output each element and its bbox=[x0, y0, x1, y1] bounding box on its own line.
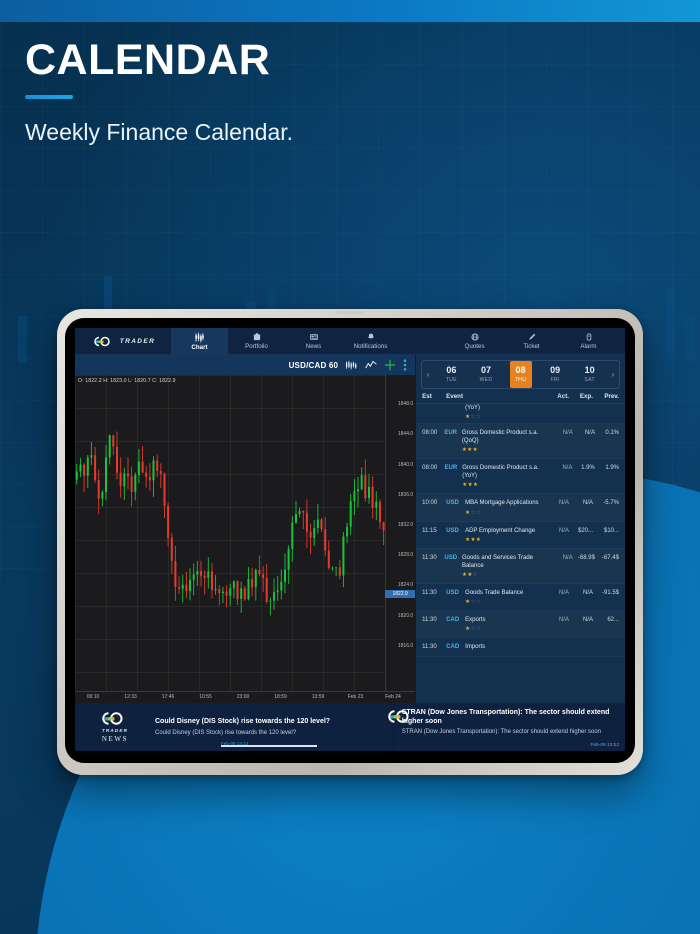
event-cell: Imports bbox=[465, 643, 547, 651]
tab-notifications[interactable]: Notifications bbox=[342, 328, 399, 354]
impact-rating-stars: ★☆☆ bbox=[465, 599, 544, 605]
impact-rating-stars: ★☆☆ bbox=[465, 510, 544, 516]
impact-rating-stars: ★☆☆ bbox=[465, 626, 544, 632]
price-axis-tick: 1816.0 bbox=[398, 643, 413, 649]
impact-rating-stars: ★★★ bbox=[462, 447, 550, 453]
chart-toolbar: USD/CAD 60 bbox=[75, 355, 415, 375]
event-actual: N/A bbox=[552, 464, 573, 471]
calendar-date-08[interactable]: 08THU bbox=[510, 361, 532, 388]
tab-chart-label: Chart bbox=[191, 344, 207, 351]
ctrader-logo-icon bbox=[98, 711, 132, 726]
event-actual: N/A bbox=[552, 554, 572, 561]
price-axis-tick: 1832.0 bbox=[398, 522, 413, 528]
ctrader-logo-icon bbox=[384, 709, 418, 724]
event-cell: MBA Mortgage Applications★☆☆ bbox=[465, 499, 547, 515]
event-actual bbox=[547, 643, 569, 644]
time-axis-tick: 23:00 bbox=[237, 694, 250, 700]
globe-icon bbox=[470, 332, 480, 342]
event-currency: USD bbox=[446, 527, 465, 534]
chart-area[interactable]: O: 1822.2 H: 1823.0 L: 1820.7 C: 1822.9 … bbox=[75, 375, 415, 691]
app-logo-text: TRADER bbox=[120, 338, 155, 345]
calendar-date-09[interactable]: 09FRI bbox=[544, 361, 566, 388]
nav-right-group: Quotes Ticket Alarm bbox=[446, 328, 625, 354]
news-time-right: Feb-09 13:52 bbox=[590, 743, 619, 748]
calendar-date-number: 08 bbox=[516, 366, 526, 376]
page-subtitle: Weekly Finance Calendar. bbox=[25, 119, 665, 146]
event-name: Goods Trade Balance bbox=[465, 589, 544, 597]
impact-rating-stars: ★★★ bbox=[465, 537, 544, 543]
table-row[interactable]: 11:30USDGoods and Services Trade Balance… bbox=[416, 549, 625, 584]
event-name: Imports bbox=[465, 643, 544, 651]
event-cell: Goods and Services Trade Balance★★☆ bbox=[462, 554, 552, 578]
news-ticker-bar: TRADER NEWS Could Disney (DIS Stock) ris… bbox=[75, 703, 625, 751]
tablet-device: TRADER bbox=[57, 309, 643, 775]
event-currency: USD bbox=[446, 589, 465, 596]
event-currency: CAD bbox=[446, 643, 465, 650]
event-cell: Goods Trade Balance★☆☆ bbox=[465, 589, 547, 605]
price-axis-tick: 1840.0 bbox=[398, 462, 413, 468]
column-header-exp: Exp. bbox=[569, 393, 593, 400]
calendar-event-list[interactable]: (YoY)★☆☆08:00EURGross Domestic Product s… bbox=[416, 404, 625, 703]
candlestick-icon bbox=[194, 332, 205, 343]
event-actual bbox=[547, 404, 569, 405]
event-previous: -5.7% bbox=[593, 499, 619, 506]
table-row[interactable]: 11:30CADExports★☆☆N/AN/A62... bbox=[416, 611, 625, 638]
nav-left-group: Chart Portfolio bbox=[171, 328, 399, 354]
calendar-date-dow: FRI bbox=[550, 377, 559, 383]
impact-rating-stars: ★★☆ bbox=[462, 572, 549, 578]
front-camera bbox=[335, 311, 365, 314]
time-axis-tick: Feb 23 bbox=[348, 694, 364, 700]
time-axis-tick: 10:55 bbox=[199, 694, 212, 700]
price-axis-tick: 1836.0 bbox=[398, 492, 413, 498]
calendar-date-07[interactable]: 07WED bbox=[475, 361, 497, 388]
background-bar bbox=[686, 318, 695, 362]
event-name: MBA Mortgage Applications bbox=[465, 499, 544, 507]
table-row[interactable]: 11:15USDADP Employment Change★★★N/A$20..… bbox=[416, 522, 625, 549]
column-header-event: Event bbox=[446, 393, 547, 400]
title-underline bbox=[25, 95, 73, 99]
table-row[interactable]: 11:30USDGoods Trade Balance★☆☆N/AN/A-91.… bbox=[416, 584, 625, 611]
event-expected: N/A bbox=[569, 616, 593, 623]
news-logo-news-left: NEWS bbox=[102, 735, 128, 743]
event-expected: N/A bbox=[573, 429, 595, 436]
app-top-navigation: TRADER bbox=[75, 328, 625, 355]
event-previous: 0.1% bbox=[595, 429, 619, 436]
tab-notifications-label: Notifications bbox=[354, 343, 388, 350]
table-row[interactable]: 10:00USDMBA Mortgage Applications★☆☆N/AN… bbox=[416, 494, 625, 521]
event-name: Gross Domestic Product s.a. (QoQ) bbox=[462, 429, 550, 445]
news-logo-right bbox=[384, 709, 418, 729]
news-title-left: Could Disney (DIS Stock) rise towards th… bbox=[155, 717, 387, 726]
chart-ohlc-readout: O: 1822.2 H: 1823.0 L: 1820.7 C: 1822.9 bbox=[78, 378, 176, 384]
event-name: Exports bbox=[465, 616, 544, 624]
event-name: Gross Domestic Product s.a. (YoY) bbox=[462, 464, 549, 480]
event-expected: 1.9% bbox=[572, 464, 594, 471]
event-time: 11:15 bbox=[422, 527, 446, 534]
event-currency: EUR bbox=[444, 429, 462, 436]
chart-price-axis: 1848.01844.01840.01836.01832.01828.01824… bbox=[385, 375, 415, 691]
event-actual: N/A bbox=[547, 499, 569, 506]
line-type-icon[interactable] bbox=[365, 360, 377, 371]
price-axis-tick: 1828.0 bbox=[398, 552, 413, 558]
table-row[interactable]: 08:00EURGross Domestic Product s.a. (YoY… bbox=[416, 459, 625, 494]
news-item-left[interactable]: TRADER NEWS Could Disney (DIS Stock) ris… bbox=[75, 703, 394, 751]
event-name: ADP Employment Change bbox=[465, 527, 544, 535]
calendar-prev-arrow[interactable]: ‹ bbox=[422, 370, 434, 379]
table-row[interactable]: 11:30CADImports bbox=[416, 638, 625, 657]
tab-chart[interactable]: Chart bbox=[171, 328, 228, 354]
event-previous: 1.9% bbox=[595, 464, 619, 471]
calendar-date-number: 10 bbox=[585, 366, 595, 376]
time-axis-tick: Feb 24 bbox=[385, 694, 401, 700]
column-header-est: Est bbox=[422, 393, 446, 400]
event-expected: N/A bbox=[569, 589, 593, 596]
impact-rating-stars: ★★★ bbox=[462, 482, 549, 488]
event-expected: -68.9$ bbox=[573, 554, 595, 561]
event-cell: Gross Domestic Product s.a. (QoQ)★★★ bbox=[462, 429, 553, 453]
news-logo-left: TRADER NEWS bbox=[75, 711, 155, 743]
event-actual: N/A bbox=[547, 616, 569, 623]
time-axis-tick: 13:59 bbox=[312, 694, 325, 700]
news-item-right[interactable]: STRAN (Dow Jones Transportation): The se… bbox=[394, 703, 625, 751]
event-actual: N/A bbox=[552, 429, 572, 436]
tablet-bezel: TRADER bbox=[65, 318, 635, 763]
chart-plot[interactable]: O: 1822.2 H: 1823.0 L: 1820.7 C: 1822.9 bbox=[75, 375, 385, 691]
event-cell: (YoY)★☆☆ bbox=[465, 404, 547, 420]
table-row[interactable]: (YoY)★☆☆ bbox=[416, 404, 625, 424]
calendar-date-dow: SAT bbox=[584, 377, 595, 383]
news-body-left: Could Disney (DIS Stock) rise towards th… bbox=[155, 717, 393, 736]
event-time: 11:30 bbox=[422, 616, 446, 623]
event-expected bbox=[569, 404, 593, 405]
news-subtitle-left: Could Disney (DIS Stock) rise towards th… bbox=[155, 729, 387, 737]
calendar-date-number: 09 bbox=[550, 366, 560, 376]
chart-symbol-label[interactable]: USD/CAD 60 bbox=[289, 361, 339, 370]
news-logo-word-left: TRADER bbox=[102, 728, 128, 733]
tab-ticket-label: Ticket bbox=[523, 343, 539, 350]
price-axis-tick: 1844.0 bbox=[398, 431, 413, 437]
candlestick-type-icon[interactable] bbox=[345, 360, 358, 371]
column-header-prev: Prev. bbox=[593, 393, 619, 400]
bell-icon bbox=[366, 332, 376, 342]
price-axis-tick: 1848.0 bbox=[398, 401, 413, 407]
calendar-date-06[interactable]: 06TUE bbox=[440, 361, 462, 388]
event-time: 08:00 bbox=[422, 464, 444, 471]
table-row[interactable]: 08:00EURGross Domestic Product s.a. (QoQ… bbox=[416, 424, 625, 459]
event-expected: N/A bbox=[569, 499, 593, 506]
tab-ticket[interactable]: Ticket bbox=[503, 328, 560, 354]
calendar-date-10[interactable]: 10SAT bbox=[579, 361, 601, 388]
background-bar bbox=[666, 288, 675, 358]
tab-portfolio[interactable]: Portfolio bbox=[228, 328, 285, 354]
calendar-next-arrow[interactable]: › bbox=[607, 370, 619, 379]
event-previous: 62... bbox=[593, 616, 619, 623]
event-time: 10:00 bbox=[422, 499, 446, 506]
tab-portfolio-label: Portfolio bbox=[245, 343, 268, 350]
more-options-icon[interactable] bbox=[403, 359, 407, 371]
alarm-icon bbox=[584, 332, 594, 342]
calendar-date-number: 06 bbox=[446, 366, 456, 376]
background-bar bbox=[18, 316, 27, 362]
time-axis-tick: 18:59 bbox=[274, 694, 287, 700]
tab-alarm[interactable]: Alarm bbox=[560, 328, 617, 354]
page-title: CALENDAR bbox=[25, 38, 665, 83]
news-subtitle-right: STRAN (Dow Jones Transportation): The se… bbox=[402, 728, 619, 736]
chart-time-axis: 09:1012:3317:4610:5523:0018:5913:59Feb 2… bbox=[75, 691, 415, 703]
event-time: 11:30 bbox=[422, 589, 446, 596]
briefcase-icon bbox=[252, 332, 262, 342]
page-header: CALENDAR Weekly Finance Calendar. bbox=[25, 38, 665, 146]
candlestick-series bbox=[75, 389, 385, 661]
calendar-date-number: 07 bbox=[481, 366, 491, 376]
time-axis-tick: 17:46 bbox=[162, 694, 175, 700]
event-actual: N/A bbox=[547, 527, 569, 534]
tab-news[interactable]: News bbox=[285, 328, 342, 354]
crosshair-icon[interactable] bbox=[384, 359, 396, 371]
app-screen: TRADER bbox=[75, 328, 625, 751]
event-cell: Exports★☆☆ bbox=[465, 616, 547, 632]
calendar-date-selector: ‹ 06TUE07WED08THU09FRI10SAT › bbox=[421, 360, 620, 389]
news-title-right: STRAN (Dow Jones Transportation): The se… bbox=[402, 708, 619, 726]
event-expected bbox=[569, 643, 593, 644]
event-currency: CAD bbox=[446, 616, 465, 623]
event-name: (YoY) bbox=[465, 404, 544, 412]
event-time: 11:30 bbox=[422, 554, 444, 561]
event-previous bbox=[593, 643, 619, 644]
event-cell: ADP Employment Change★★★ bbox=[465, 527, 547, 543]
app-logo[interactable]: TRADER bbox=[75, 336, 171, 347]
pen-icon bbox=[527, 332, 537, 342]
tab-alarm-label: Alarm bbox=[580, 343, 596, 350]
calendar-date-list: 06TUE07WED08THU09FRI10SAT bbox=[434, 361, 607, 388]
calendar-panel: ‹ 06TUE07WED08THU09FRI10SAT › Est Event … bbox=[415, 355, 625, 703]
event-time: 11:30 bbox=[422, 643, 446, 650]
current-price-badge: 1822.9 bbox=[385, 590, 415, 598]
event-previous bbox=[593, 404, 619, 405]
event-currency: EUR bbox=[445, 464, 463, 471]
event-time: 08:00 bbox=[422, 429, 444, 436]
event-currency bbox=[446, 404, 465, 405]
event-currency: USD bbox=[444, 554, 462, 561]
tab-quotes[interactable]: Quotes bbox=[446, 328, 503, 354]
event-previous: $10... bbox=[593, 527, 619, 534]
time-axis-tick: 09:10 bbox=[87, 694, 100, 700]
calendar-date-dow: THU bbox=[515, 377, 526, 383]
event-cell: Gross Domestic Product s.a. (YoY)★★★ bbox=[462, 464, 552, 488]
impact-rating-stars: ★☆☆ bbox=[465, 414, 544, 420]
event-name: Goods and Services Trade Balance bbox=[462, 554, 549, 570]
event-currency: USD bbox=[446, 499, 465, 506]
event-previous: -67.4$ bbox=[595, 554, 619, 561]
price-axis-tick: 1820.0 bbox=[398, 613, 413, 619]
calendar-table-header: Est Event Act. Exp. Prev. bbox=[416, 389, 625, 404]
news-time-left: Feb-09 14:14 bbox=[221, 741, 248, 746]
event-previous: -91.5$ bbox=[593, 589, 619, 596]
calendar-date-dow: TUE bbox=[446, 377, 457, 383]
price-axis-tick: 1824.0 bbox=[398, 582, 413, 588]
tab-quotes-label: Quotes bbox=[465, 343, 485, 350]
app-body: USD/CAD 60 bbox=[75, 355, 625, 703]
top-accent-strip bbox=[0, 0, 700, 22]
event-expected: $20... bbox=[569, 527, 593, 534]
ctrader-logo-icon bbox=[91, 336, 117, 347]
column-header-act: Act. bbox=[547, 393, 569, 400]
calendar-date-dow: WED bbox=[480, 377, 493, 383]
event-actual: N/A bbox=[547, 589, 569, 596]
event-time bbox=[422, 404, 446, 405]
tab-news-label: News bbox=[306, 343, 321, 350]
time-axis-tick: 12:33 bbox=[124, 694, 137, 700]
newspaper-icon bbox=[309, 332, 319, 342]
chart-panel: USD/CAD 60 bbox=[75, 355, 415, 703]
